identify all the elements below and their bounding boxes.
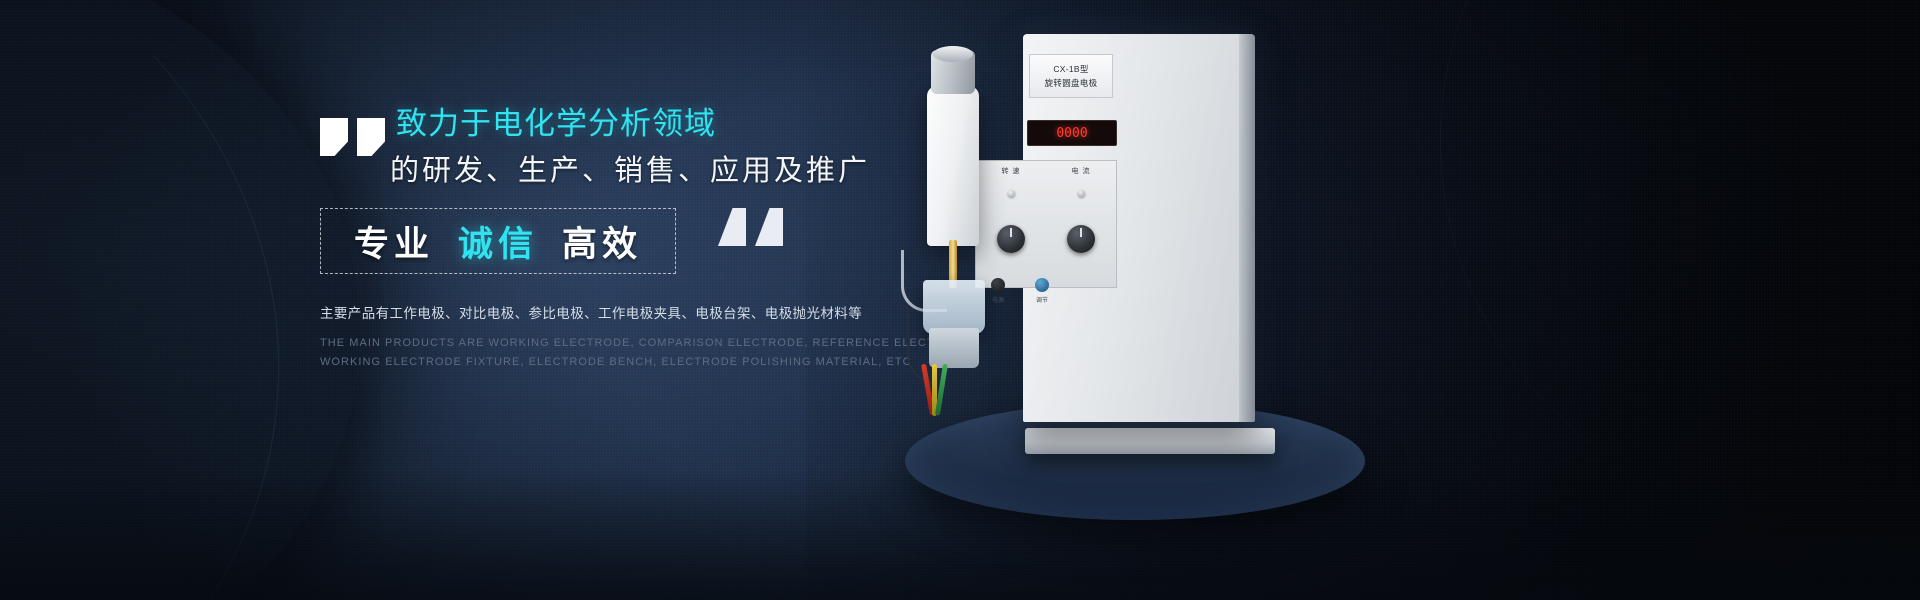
control-label-right: 电 流 [1072,166,1091,176]
indicator-pin-right [1078,190,1085,197]
knob-speed[interactable] [997,225,1025,253]
hero-banner: 致力于电化学分析领域 的研发、生产、销售、应用及推广 专业 诚信 高效 主要产品… [0,0,1920,600]
aux-control-power[interactable]: 电源 [991,278,1005,304]
headline-line-1: 致力于电化学分析领域 [396,104,940,144]
description-chinese: 主要产品有工作电极、对比电极、参比电极、工作电极夹具、电极台架、电极抛光材料等 [320,304,940,324]
description-english-line-2: WORKING ELECTRODE FIXTURE, ELECTRODE BEN… [320,353,940,372]
cell-base [929,328,979,368]
product-label-line-1: CX-1B型 [1053,63,1088,75]
display-value: 0000 [1056,126,1087,141]
instrument-base [1025,428,1275,454]
adjust-knob-icon [1035,278,1049,292]
product-label-line-2: 旋转圆盘电极 [1045,77,1098,89]
rotor-cap [933,46,973,62]
power-switch-icon [991,278,1005,292]
knob-current[interactable] [1067,225,1095,253]
control-panel: 转 速 电 流 [975,160,1117,288]
electrochemical-cell [923,280,985,334]
aux-control-adjust[interactable]: 调节 [1035,278,1049,304]
indicator-pins [976,190,1116,197]
knob-row [976,225,1116,253]
slogan-box: 专业 诚信 高效 [320,208,676,274]
panel-edge [1239,34,1255,422]
product-image: CX-1B型 旋转圆盘电极 0000 转 速 电 流 电源 [905,28,1465,498]
slogan-word-2: 诚信 [458,216,538,267]
auxiliary-controls: 电源 调节 [991,278,1049,304]
open-quote-icon [320,118,385,156]
aux-tag-right: 调节 [1036,295,1048,304]
control-labels: 转 速 电 流 [976,161,1116,176]
description-english-line-1: THE MAIN PRODUCTS ARE WORKING ELECTRODE,… [320,334,940,353]
slogan-word-3: 高效 [562,216,642,267]
close-quote-icon [718,208,783,246]
electrode-wires [921,364,948,416]
control-label-left: 转 速 [1002,166,1021,176]
slogan-word-1: 专业 [354,216,434,267]
product-label-plate: CX-1B型 旋转圆盘电极 [1029,54,1113,98]
indicator-pin-left [1008,190,1015,197]
headline-line-2: 的研发、生产、销售、应用及推广 [390,152,940,190]
banner-text-block: 致力于电化学分析领域 的研发、生产、销售、应用及推广 专业 诚信 高效 主要产品… [320,104,940,372]
digital-display: 0000 [1027,120,1117,146]
aux-tag-left: 电源 [992,295,1004,304]
rotor-motor-body [927,86,979,246]
